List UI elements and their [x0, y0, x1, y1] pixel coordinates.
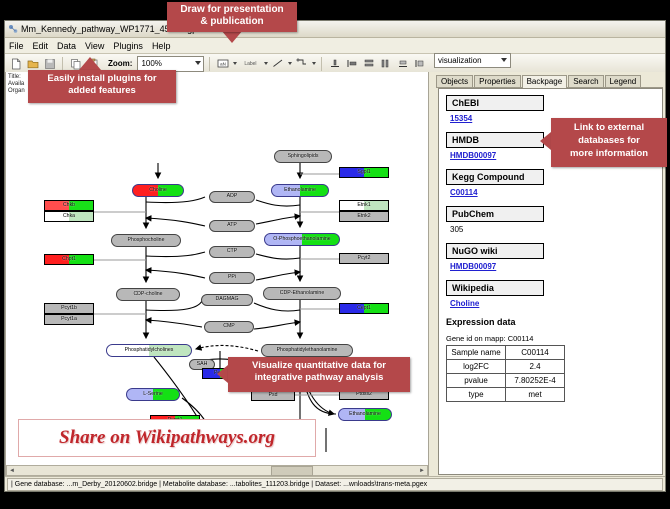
table-cell: C00114 — [506, 346, 565, 360]
expression-data-table: Sample nameC00114log2FC2.4pvalue7.80252E… — [446, 345, 565, 402]
callout-links-line1: Link to external — [551, 121, 667, 134]
zoom-label: Zoom: — [108, 59, 132, 68]
menu-bar: File Edit Data View Plugins Help — [5, 38, 665, 54]
pathway-metabolite-node[interactable]: Ethanolamine — [271, 184, 329, 197]
pathvisio-icon — [8, 24, 18, 34]
callout-plugins-arrow — [79, 57, 101, 70]
callout-links-line3: more information — [551, 147, 667, 160]
pathway-canvas[interactable]: Title: Availa Organ — [5, 72, 429, 477]
chevron-down-icon — [501, 58, 507, 62]
callout-draw-line1: Draw for presentation — [167, 4, 297, 16]
backpage-section-header: NuGO wiki — [446, 243, 544, 259]
backpage-external-link[interactable]: HMDB00097 — [450, 262, 655, 271]
callout-links: Link to external databases for more info… — [551, 118, 667, 167]
table-row: pvalue7.80252E-4 — [447, 374, 565, 388]
menu-plugins[interactable]: Plugins — [113, 41, 143, 51]
visualization-value: visualization — [438, 56, 482, 65]
callout-links-arrow — [540, 132, 551, 150]
share-banner: Share on Wikipathways.org — [18, 419, 316, 457]
pathway-gene-node[interactable]: Chkb — [44, 200, 94, 211]
node-label: Chkb — [63, 203, 75, 208]
tab-search[interactable]: Search — [568, 75, 603, 87]
pathway-metabolite-node[interactable]: ATP — [209, 220, 255, 232]
chevron-down-icon[interactable] — [312, 62, 316, 65]
pathway-metabolite-node[interactable]: CTP — [209, 246, 255, 258]
expression-data-title: Expression data — [446, 317, 655, 327]
chevron-down-icon — [195, 61, 201, 65]
table-cell: pvalue — [447, 374, 506, 388]
pathway-gene-node[interactable]: Pcyt1b — [44, 303, 94, 314]
pathway-metabolite-node[interactable]: L-Serine — [126, 388, 180, 401]
pathway-metabolite-node[interactable]: CDP-Ethanolamine — [263, 287, 341, 300]
tab-backpage[interactable]: Backpage — [522, 75, 568, 88]
backpage-section-header: Wikipedia — [446, 280, 544, 296]
table-row: log2FC2.4 — [447, 360, 565, 374]
node-label: Cept1 — [357, 306, 371, 311]
side-panel-tabs: Objects Properties Backpage Search Legen… — [436, 72, 663, 88]
node-label: CDP-Ethanolamine — [280, 291, 324, 296]
pathway-metabolite-node[interactable]: Phosphatidylcholines — [106, 344, 192, 357]
pathway-gene-node[interactable]: Pcyt2 — [339, 253, 389, 264]
chevron-down-icon[interactable] — [233, 62, 237, 65]
backpage-section-header: ChEBI — [446, 95, 544, 111]
node-label: Psd — [269, 393, 278, 398]
pathway-metabolite-node[interactable]: CMP — [204, 321, 254, 333]
callout-draw-line2: & publication — [167, 16, 297, 28]
table-row: Sample nameC00114 — [447, 346, 565, 360]
canvas-hscrollbar[interactable]: ◄ ► — [6, 465, 428, 476]
pathway-metabolite-node[interactable]: PPi — [209, 272, 255, 284]
callout-visualize-line1: Visualize quantitative data for — [228, 360, 410, 372]
node-label: O-Phosphoethanolamine — [273, 237, 330, 242]
pathway-metabolite-node[interactable]: Ethanolamine — [338, 408, 392, 421]
pathway-metabolite-node[interactable]: Sphingolipids — [274, 150, 332, 163]
scroll-right-icon[interactable]: ► — [417, 468, 427, 474]
backpage-section-header: PubChem — [446, 206, 544, 222]
line-icon[interactable] — [270, 56, 285, 71]
node-label: Pcyt1b — [61, 306, 77, 311]
pathway-metabolite-node[interactable]: Choline — [132, 184, 184, 197]
node-label: Sphingolipids — [288, 154, 319, 159]
status-bar: | Gene database: ...m_Derby_20120602.bri… — [5, 476, 665, 491]
status-text: | Gene database: ...m_Derby_20120602.bri… — [7, 478, 663, 491]
pathway-gene-node[interactable]: Chka — [44, 211, 94, 222]
node-label: Chpt1 — [62, 257, 76, 262]
gene-id-line: Gene id on mapp: C00114 — [446, 334, 655, 343]
data-node-icon[interactable]: aN — [215, 56, 230, 71]
pathway-metabolite-node[interactable]: O-Phosphoethanolamine — [264, 233, 340, 246]
callout-draw: Draw for presentation & publication — [167, 2, 297, 32]
table-cell: type — [447, 388, 506, 402]
backpage-external-link[interactable]: Choline — [450, 299, 655, 308]
toolbar-separator — [62, 57, 63, 71]
node-label: CTP — [227, 249, 237, 254]
menu-help[interactable]: Help — [152, 41, 171, 51]
node-label: CMP — [223, 324, 235, 329]
table-cell: 2.4 — [506, 360, 565, 374]
callout-plugins-line2: added features — [28, 85, 176, 97]
share-banner-text: Share on Wikipathways.org — [59, 427, 275, 449]
callout-plugins-line1: Easily install plugins for — [28, 73, 176, 85]
align-rows-icon[interactable] — [361, 56, 376, 71]
pathway-metabolite-node[interactable]: Phosphocholine — [111, 234, 181, 247]
table-cell: 7.80252E-4 — [506, 374, 565, 388]
chevron-down-icon[interactable] — [288, 62, 292, 65]
node-label: Pcyt2 — [358, 256, 371, 261]
stack-right-icon[interactable] — [412, 56, 427, 71]
pathway-gene-node[interactable]: Sgpl1 — [339, 167, 389, 178]
backpage-external-link[interactable]: C00114 — [450, 188, 655, 197]
node-label: Etnk2 — [357, 214, 370, 219]
node-label: DAGMAG — [215, 297, 238, 302]
node-label: Phosphocholine — [128, 238, 165, 243]
backpage-section-header: Kegg Compound — [446, 169, 544, 185]
menu-view[interactable]: View — [85, 41, 104, 51]
visualization-combobox[interactable]: visualization — [434, 53, 511, 68]
node-label: Ptdss2 — [356, 392, 372, 397]
save-disk-icon[interactable] — [42, 56, 57, 71]
zoom-value: 100% — [141, 59, 161, 68]
menu-data[interactable]: Data — [57, 41, 76, 51]
node-label: Pcyt1a — [61, 317, 77, 322]
toolbar-separator — [209, 57, 210, 71]
chevron-down-icon[interactable] — [264, 62, 268, 65]
node-label: ATP — [227, 223, 237, 228]
table-cell: met — [506, 388, 565, 402]
pathway-gene-node[interactable]: Chpt1 — [44, 254, 94, 265]
node-label: SAH — [197, 362, 208, 367]
menu-file[interactable]: File — [9, 41, 24, 51]
callout-links-line2: databases for — [551, 134, 667, 147]
menu-edit[interactable]: Edit — [33, 41, 49, 51]
table-cell: Sample name — [447, 346, 506, 360]
node-label: PPi — [228, 275, 236, 280]
tab-properties[interactable]: Properties — [474, 75, 520, 87]
node-label: Ethanolamine — [284, 188, 316, 193]
svg-text:aN: aN — [220, 62, 226, 67]
pathway-metabolite-node[interactable]: Phosphatidylethanolamine — [261, 344, 353, 357]
table-row: typemet — [447, 388, 565, 402]
pathway-gene-node[interactable]: Cept1 — [339, 303, 389, 314]
visualization-row: visualization — [434, 52, 511, 68]
backpage-value: 305 — [450, 225, 655, 234]
node-label: Phosphatidylethanolamine — [277, 348, 338, 353]
callout-visualize: Visualize quantitative data for integrat… — [228, 357, 410, 392]
callout-visualize-line2: integrative pathway analysis — [228, 372, 410, 384]
label-tool[interactable]: Label — [239, 56, 261, 71]
new-file-icon[interactable] — [8, 56, 23, 71]
node-label: Choline — [149, 188, 167, 193]
align-top-icon[interactable] — [327, 56, 342, 71]
node-label: Chka — [63, 214, 75, 219]
tab-legend[interactable]: Legend — [605, 75, 642, 87]
pathway-metabolite-node[interactable]: ADP — [209, 191, 255, 203]
stack-bottom-icon[interactable] — [395, 56, 410, 71]
node-label: ADP — [227, 194, 238, 199]
pathway-gene-node[interactable]: Pcyt1a — [44, 314, 94, 325]
node-label: Phosphatidylcholines — [125, 348, 174, 353]
backpage-section-header: HMDB — [446, 132, 544, 148]
callout-visualize-arrow — [217, 365, 228, 383]
node-label: L-Serine — [143, 392, 163, 397]
node-label: CDP-choline — [133, 292, 162, 297]
title-bar: Mm_Kennedy_pathway_WP1771_45176.gpml — [5, 21, 665, 38]
tab-objects[interactable]: Objects — [436, 75, 473, 87]
toolbar-separator — [321, 57, 322, 71]
node-label: Etnk1 — [357, 203, 370, 208]
scroll-left-icon[interactable]: ◄ — [7, 468, 17, 474]
pathway-metabolite-node[interactable]: CDP-choline — [116, 288, 180, 301]
align-columns-icon[interactable] — [378, 56, 393, 71]
pathway-metabolite-node[interactable]: DAGMAG — [201, 294, 253, 306]
callout-plugins: Easily install plugins for added feature… — [28, 70, 176, 103]
pathway-gene-node[interactable]: Etnk1 — [339, 200, 389, 211]
scrollbar-thumb[interactable] — [271, 466, 313, 476]
align-left-icon[interactable] — [344, 56, 359, 71]
connector-icon[interactable] — [294, 56, 309, 71]
node-label: Sgpl1 — [357, 170, 370, 175]
open-folder-icon[interactable] — [25, 56, 40, 71]
node-label: Ethanolamine — [349, 412, 381, 417]
table-cell: log2FC — [447, 360, 506, 374]
pathway-gene-node[interactable]: Etnk2 — [339, 211, 389, 222]
